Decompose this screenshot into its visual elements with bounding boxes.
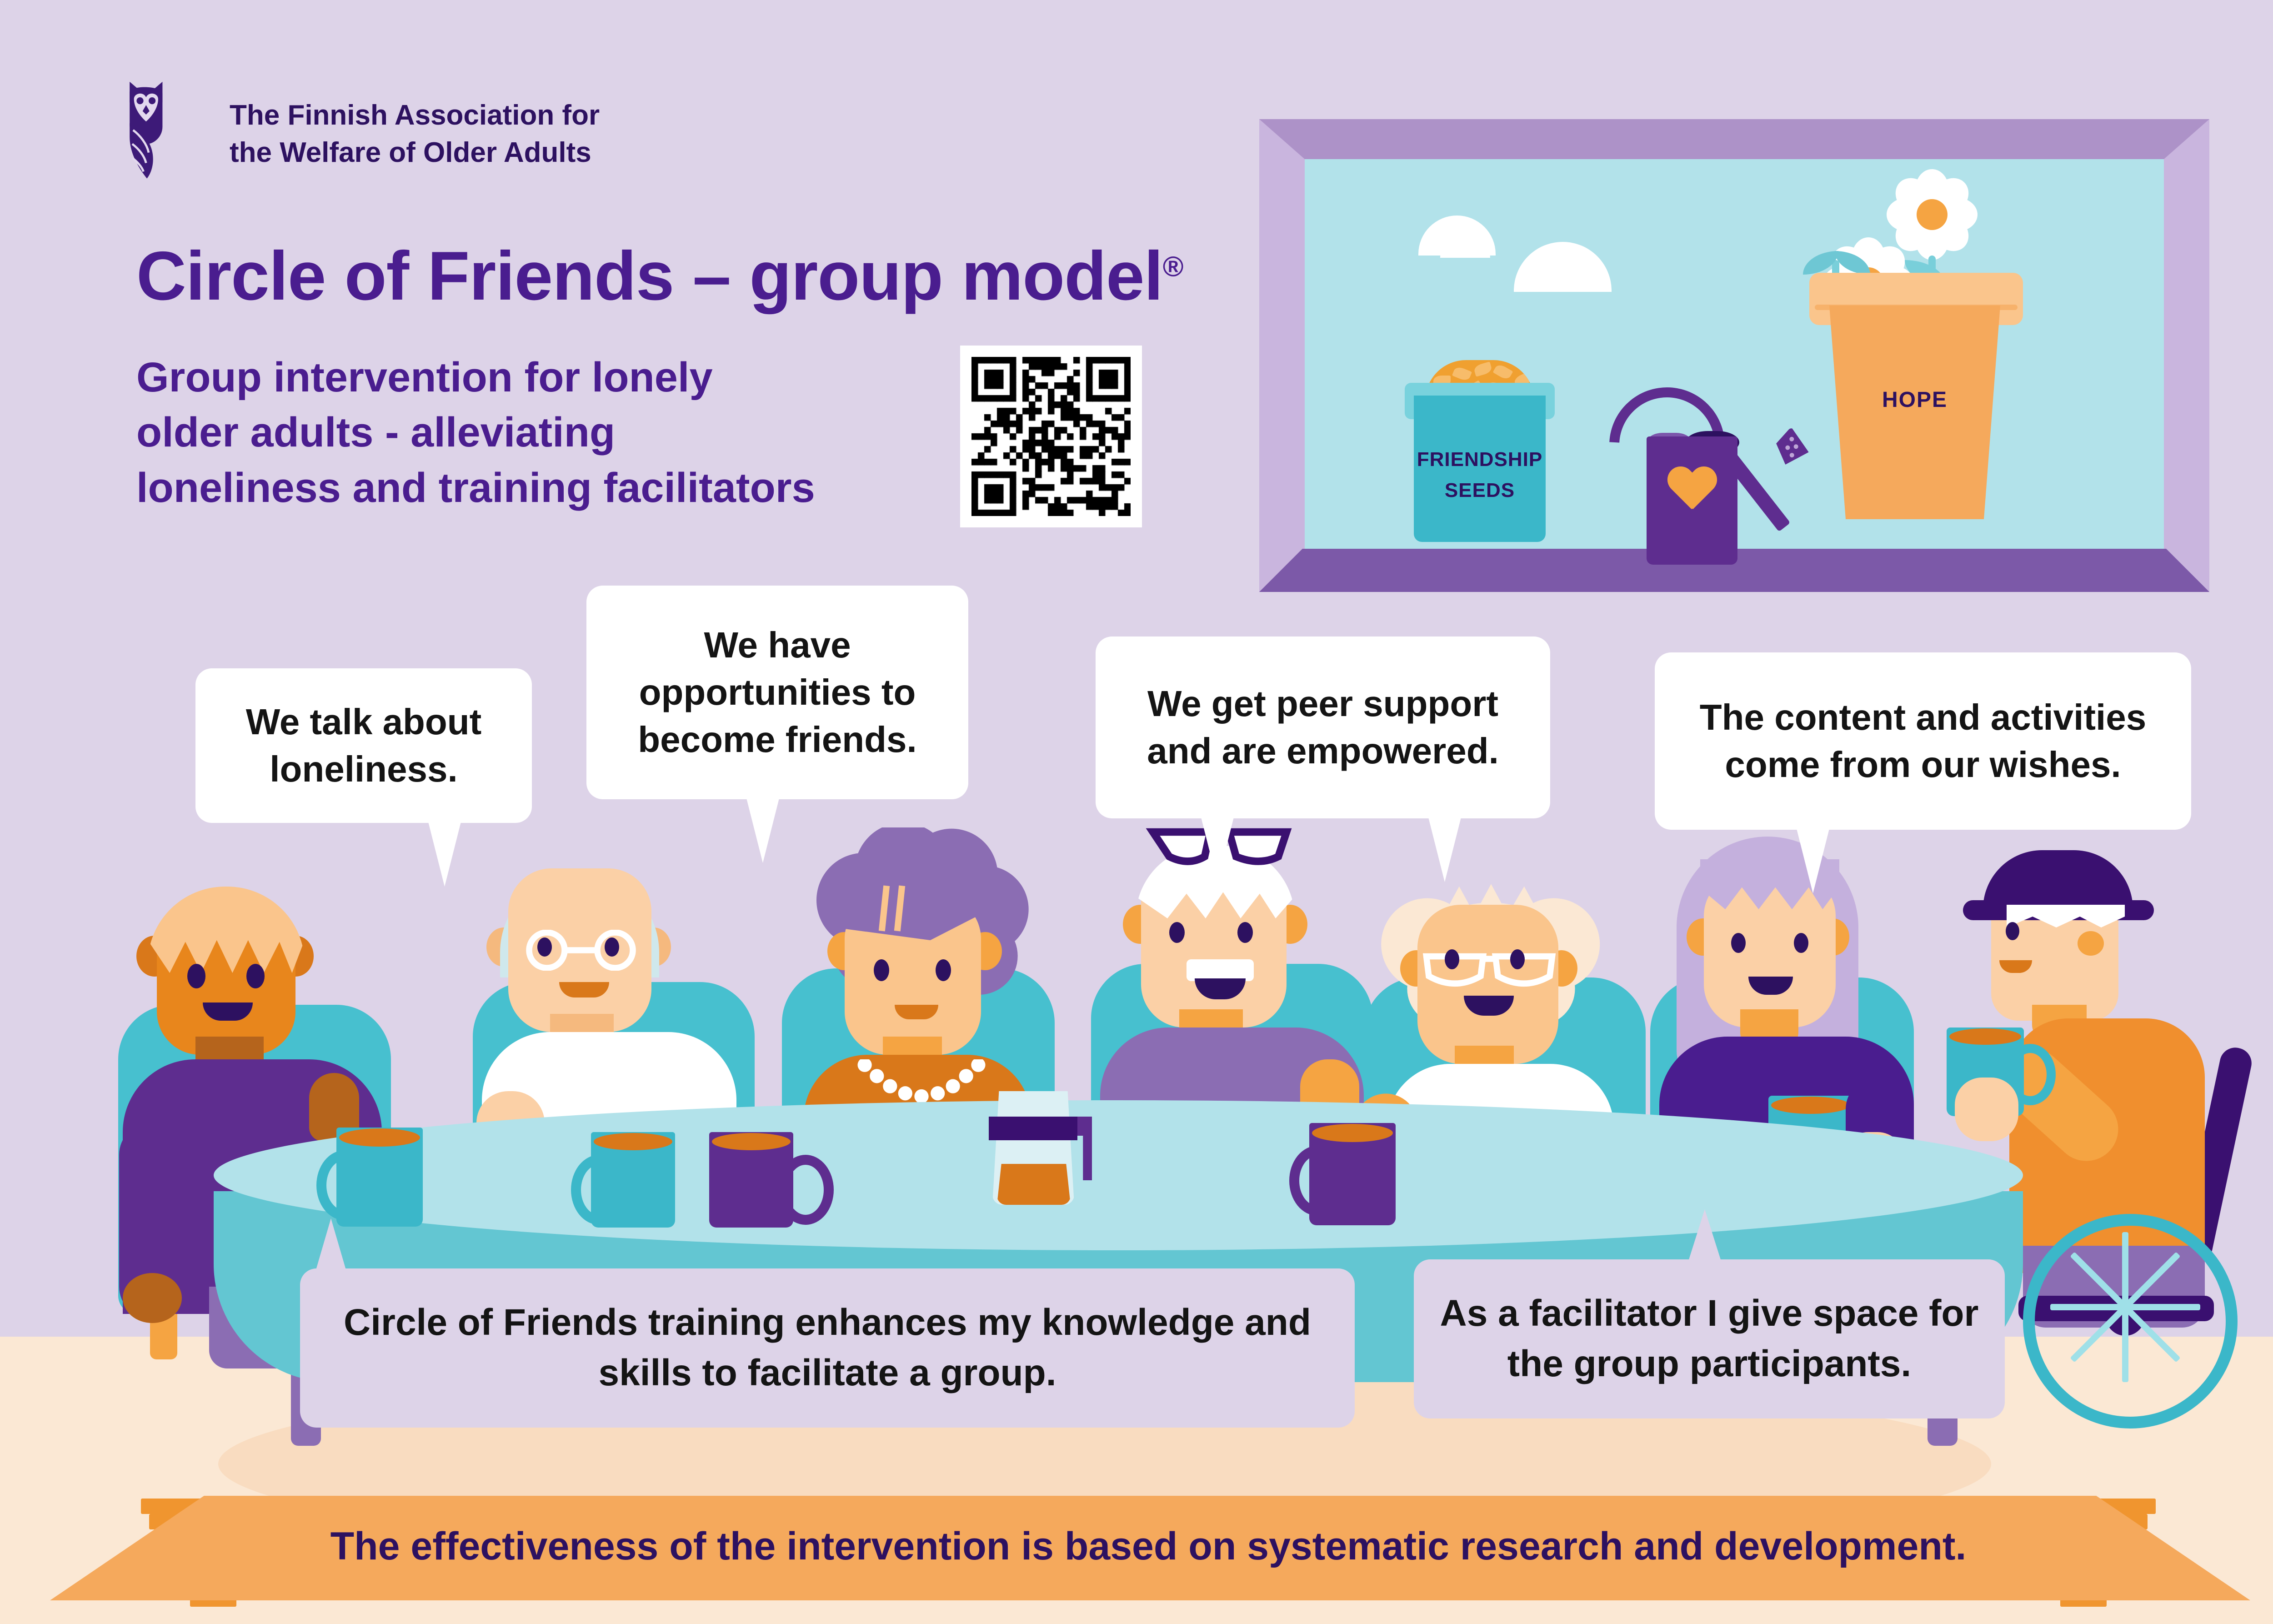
mug-on-table [1309,1123,1414,1228]
coffee-pot-band [989,1117,1077,1140]
eye [537,937,552,957]
bubble-loneliness-text: We talk about loneliness. [218,698,509,793]
window-frame-right [2164,119,2209,592]
bubble-facilitator-text: As a facilitator I give space for the gr… [1437,1288,1982,1389]
pot-body [1824,306,2006,519]
qr-code-canvas[interactable] [971,357,1131,516]
owl-icon [123,80,209,184]
mustache-icon [1187,959,1254,981]
eye [605,937,619,957]
coffee-pot-coffee [997,1164,1071,1205]
mug-coffee [1949,1028,2021,1045]
bubble-wishes-text: The content and activities come from our… [1673,694,2173,788]
pot-label: HOPE [1828,387,2001,412]
seed-bag-label: FRIENDSHIP SEEDS [1405,444,1555,506]
eye [187,964,205,988]
bubble-friends-text: We have opportunities to become friends. [605,622,950,763]
bubble-training: Circle of Friends training enhances my k… [300,1268,1355,1428]
qr-code[interactable] [960,346,1142,527]
registered-mark: ® [1163,251,1183,282]
subtitle-line1: Group intervention for lonely [136,350,955,405]
bubble-wishes: The content and activities come from our… [1655,652,2191,830]
bubble-peer-support-tail [1427,814,1462,882]
page-subtitle: Group intervention for lonely older adul… [136,350,955,516]
bubble-peer-support-tail [1200,814,1235,882]
mug-coffee [339,1128,420,1147]
subtitle-line2: older adults - alleviating [136,405,955,460]
mouth-smile [559,982,609,997]
mug-coffee [594,1133,672,1150]
logo-block: The Finnish Association for the Welfare … [123,80,714,184]
table-top [214,1100,2023,1250]
friendship-seeds-bag: FRIENDSHIP SEEDS [1405,346,1555,542]
bubble-peer-support-text: We get peer support and are empowered. [1116,680,1530,775]
bubble-friends: We have opportunities to become friends. [586,586,968,799]
glasses-icon [1421,950,1557,993]
eye [1237,922,1253,943]
window-frame-top [1259,119,2209,159]
coffee-pot [980,1091,1089,1205]
mug-on-table [336,1128,441,1228]
eye [246,964,265,988]
heart-icon [1667,467,1717,513]
glasses-icon [513,930,649,971]
org-name-line1: The Finnish Association for [230,97,707,134]
bubble-peer-support: We get peer support and are empowered. [1096,637,1550,818]
bubble-wishes-tail [1796,825,1830,893]
eye [2006,922,2019,940]
mug-coffee [1771,1097,1850,1114]
watering-can-icon [1605,387,1796,569]
bubble-facilitator-tail [1687,1209,1722,1264]
window-frame-left [1259,119,1305,592]
bubble-training-tail [314,1218,348,1278]
organization-name: The Finnish Association for the Welfare … [230,97,707,172]
eye [1510,949,1525,969]
mug-on-table [709,1132,814,1232]
subtitle-line3: loneliness and training facilitators [136,461,955,516]
banner-text: The effectiveness of the intervention is… [0,1524,2273,1569]
eye [1169,922,1185,943]
bubble-facilitator: As a facilitator I give space for the gr… [1414,1259,2005,1418]
mug-on-table [591,1132,696,1232]
nose [2078,931,2104,956]
bubble-loneliness: We talk about loneliness. [195,668,532,823]
eye [874,959,889,981]
window-scene: FRIENDSHIP SEEDS [1259,119,2209,592]
bubble-training-text: Circle of Friends training enhances my k… [327,1298,1327,1398]
hand-holding-mug [1955,1078,2018,1141]
mug-coffee [712,1133,791,1150]
hope-flower-pot: HOPE [1796,169,2041,546]
seed-bag-label-line2: SEEDS [1445,479,1515,501]
eye [1731,933,1746,953]
eye [1445,949,1459,969]
page-title: Circle of Friends – group model® [136,236,1183,316]
eye [936,959,951,981]
eye [1794,933,1808,953]
hand [123,1273,182,1323]
seed-bag-label-line1: FRIENDSHIP [1417,448,1542,471]
page-title-text: Circle of Friends – group model [136,237,1163,315]
mug-coffee [1312,1124,1393,1142]
bubble-loneliness-tail [427,818,462,887]
bubble-friends-tail [746,795,780,863]
daisy-center [1917,199,1948,230]
org-name-line2: the Welfare of Older Adults [230,134,707,171]
